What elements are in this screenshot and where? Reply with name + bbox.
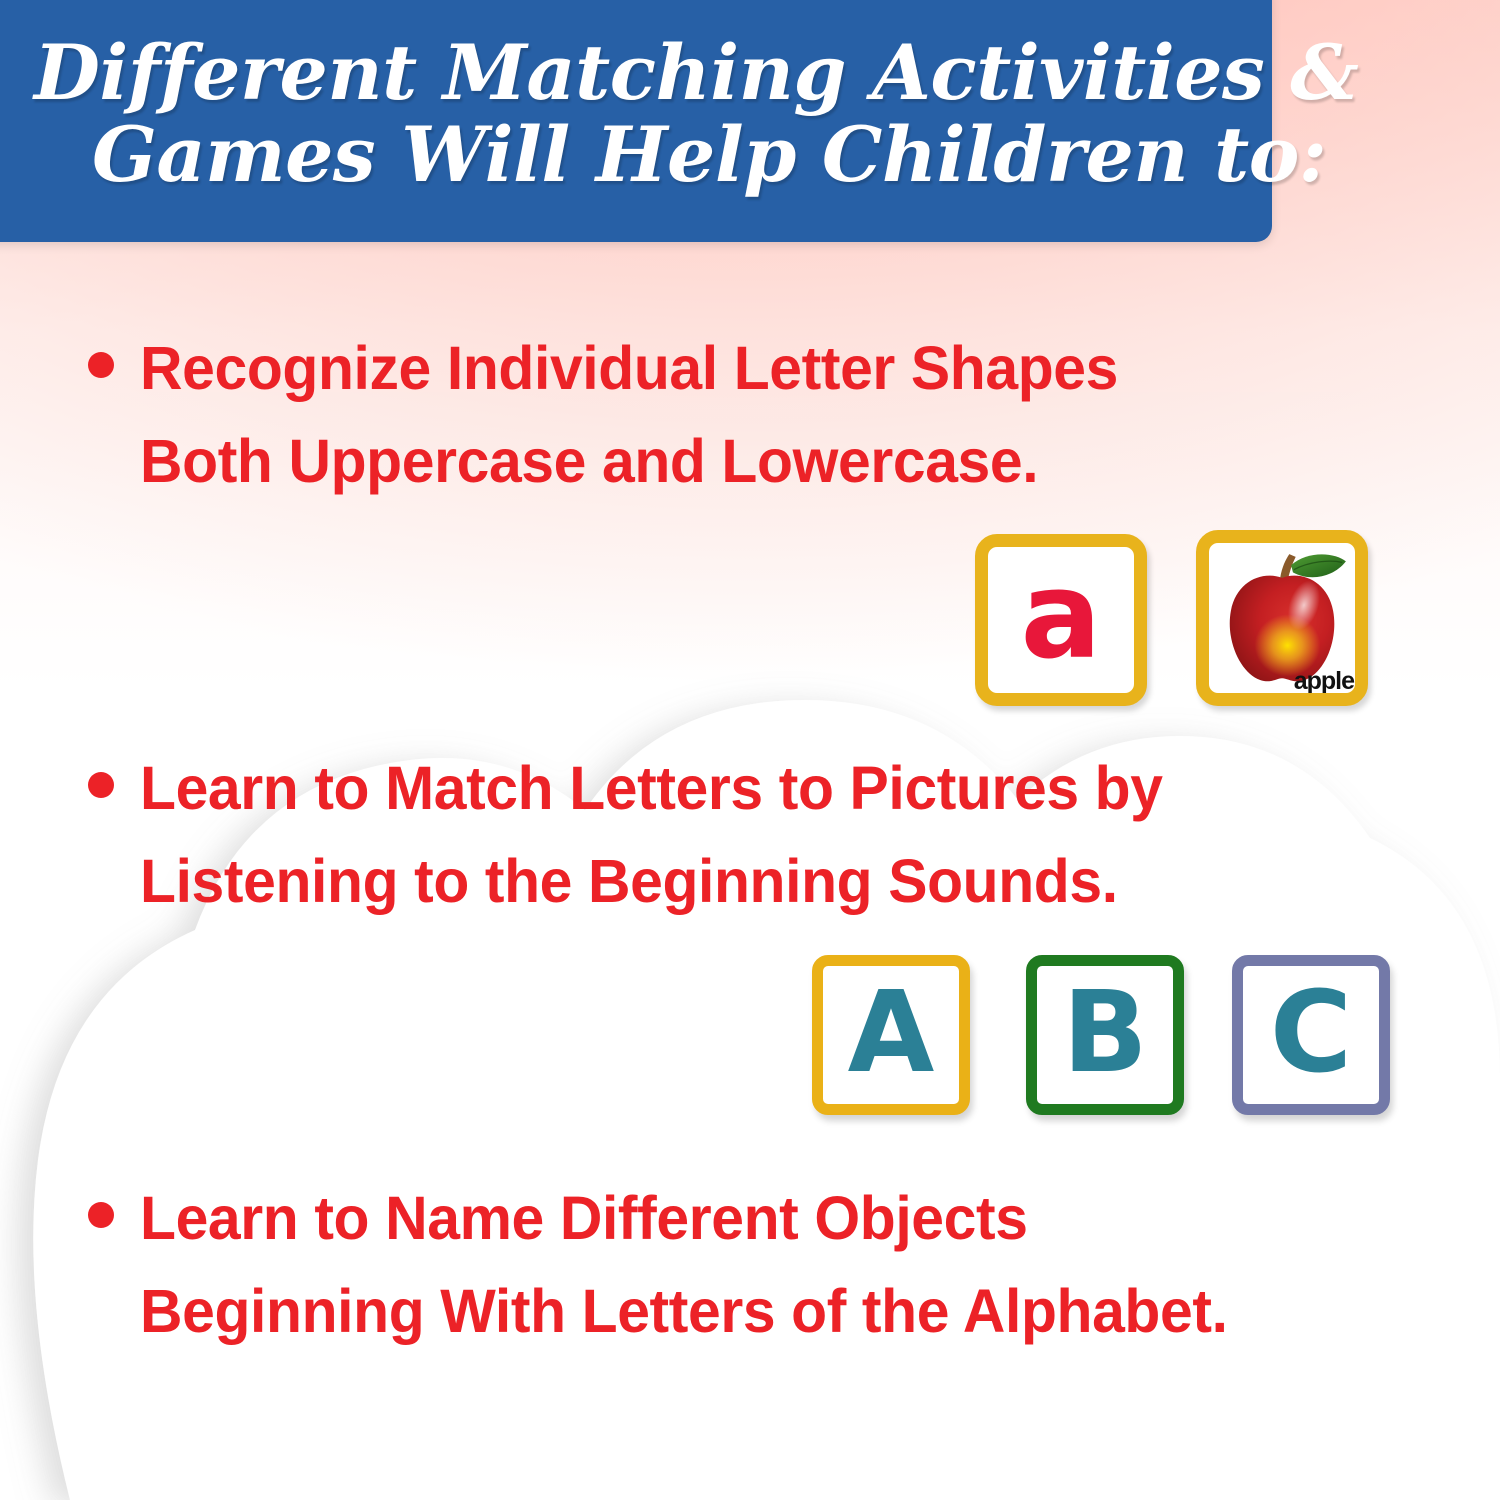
list-item-label: Learn to Match Letters to Pictures by Li… [140,742,1306,929]
flashcard-letter-A: A [812,955,970,1115]
title-line-1: Different Matching Activities & [34,32,1246,114]
list-item-label: Recognize Individual Letter Shapes Both … [140,322,1151,509]
list-item-label: Learn to Name Different Objects Beginnin… [140,1172,1277,1359]
letter-glyph: a [1021,557,1102,677]
apple-label: apple [1294,667,1354,696]
bullet-dot-icon [88,1202,114,1228]
flashcard-letter-C: C [1232,955,1390,1115]
letter-glyph: B [1062,977,1147,1089]
list-item: Learn to Match Letters to Pictures by Li… [88,742,1348,929]
flashcard-apple: apple [1196,530,1368,706]
bullet-dot-icon [88,352,114,378]
letter-glyph: A [848,977,935,1089]
letter-glyph: C [1270,977,1352,1089]
title-line-2: Games Will Help Children to: [34,114,1246,196]
list-item: Learn to Name Different Objects Beginnin… [88,1172,1318,1359]
list-item: Recognize Individual Letter Shapes Both … [88,322,1188,509]
bullet-dot-icon [88,772,114,798]
title-banner: Different Matching Activities & Games Wi… [0,0,1272,242]
flashcard-letter-B: B [1026,955,1184,1115]
flashcard-letter-a: a [975,534,1147,706]
